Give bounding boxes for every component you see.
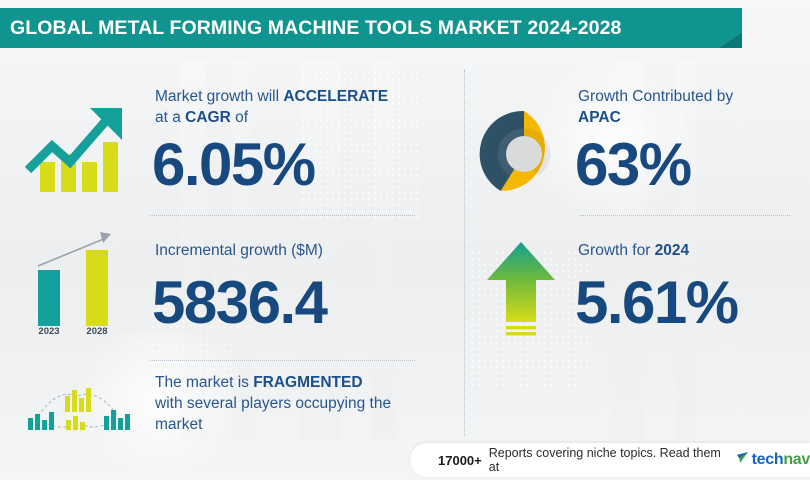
footer-text: Reports covering niche topics. Read them… (489, 446, 722, 474)
logo-text-nav: nav (783, 451, 810, 468)
incremental-growth-label: Incremental growth ($M) (155, 240, 435, 261)
bar-label-2028: 2028 (80, 326, 114, 337)
growth-2024-label: Growth for 2024 (578, 240, 803, 261)
donut-chart-icon (478, 108, 570, 200)
report-count: 17000+ (438, 453, 482, 468)
incremental-growth-value: 5836.4 (152, 272, 327, 334)
logo-text-tech: tech (752, 451, 784, 468)
horizontal-divider-right-1 (580, 215, 790, 216)
header-banner: GLOBAL METAL FORMING MACHINE TOOLS MARKE… (0, 8, 742, 48)
growth-2024-value: 5.61% (575, 272, 738, 334)
cagr-lead-line1-bold: ACCELERATE (283, 88, 388, 105)
fragmented-line1-bold: FRAGMENTED (253, 374, 362, 391)
page-title: GLOBAL METAL FORMING MACHINE TOOLS MARKE… (0, 17, 621, 40)
vertical-divider (464, 70, 465, 436)
apac-label: Growth Contributed by APAC (578, 86, 803, 128)
bar-label-2023: 2023 (32, 326, 66, 337)
fragmented-line3: market (155, 414, 435, 435)
cagr-lead-line2-tail: of (231, 109, 248, 126)
cagr-value: 6.05% (152, 134, 315, 196)
cagr-lead-line2-bold: CAGR (185, 109, 231, 126)
up-arrow-gradient-icon (483, 240, 559, 340)
fragmented-market-network-icon (14, 382, 138, 434)
growth-2024-line1-plain: Growth for (578, 242, 655, 259)
footer-bar: 17000+ Reports covering niche topics. Re… (410, 443, 810, 477)
fragmented-line2: with several players occupying the (155, 393, 435, 414)
cagr-label: Market growth will ACCELERATE at a CAGR … (155, 86, 435, 128)
apac-line2-bold: APAC (578, 109, 621, 126)
cagr-lead-line2-plain: at a (155, 109, 185, 126)
technavio-arrow-icon (736, 451, 750, 470)
fragmented-label: The market is FRAGMENTED with several pl… (155, 372, 435, 435)
apac-line1: Growth Contributed by (578, 86, 803, 107)
growth-2024-line1-bold: 2024 (655, 242, 689, 259)
horizontal-divider-left-2 (150, 360, 415, 361)
cagr-lead-line1-plain: Market growth will (155, 88, 283, 105)
trend-arrow-icon (22, 100, 134, 196)
apac-value: 63% (575, 134, 691, 196)
fragmented-line1-plain: The market is (155, 374, 253, 391)
horizontal-divider-left-1 (150, 215, 415, 216)
bar-chart-growth-icon: 2023 2028 (14, 232, 138, 342)
technavio-logo[interactable]: technav (736, 451, 810, 470)
